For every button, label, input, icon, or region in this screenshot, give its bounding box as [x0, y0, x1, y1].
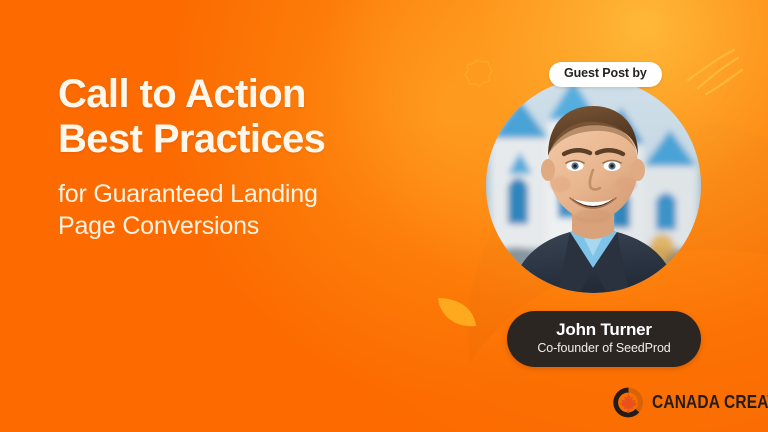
subhead-line-2: Page Conversions: [58, 210, 448, 243]
subhead-line-1: for Guaranteed Landing: [58, 178, 448, 211]
brand-name: CANADA CREATE: [652, 392, 768, 412]
headline-line-1: Call to Action: [58, 72, 448, 117]
copy-block: Call to Action Best Practices for Guaran…: [58, 72, 448, 243]
headline-line-2: Best Practices: [58, 117, 448, 162]
author-name: John Turner: [523, 320, 685, 340]
page-subtitle: for Guaranteed Landing Page Conversions: [58, 178, 448, 243]
brand-logo: CANADA CREATE™: [612, 386, 768, 419]
status-badge: Guest Post by: [549, 62, 662, 87]
social-card: Call to Action Best Practices for Guaran…: [0, 0, 768, 432]
page-title: Call to Action Best Practices: [58, 72, 448, 162]
brand-logo-text: CANADA CREATE™: [652, 392, 768, 413]
portrait-illustration: [486, 78, 701, 293]
author-nameplate: John Turner Co-founder of SeedProd: [507, 311, 701, 367]
canada-create-maple-leaf-icon: [612, 386, 645, 419]
portrait-photo: [486, 78, 701, 293]
author-role: Co-founder of SeedProd: [523, 341, 685, 356]
avatar: [486, 78, 701, 293]
